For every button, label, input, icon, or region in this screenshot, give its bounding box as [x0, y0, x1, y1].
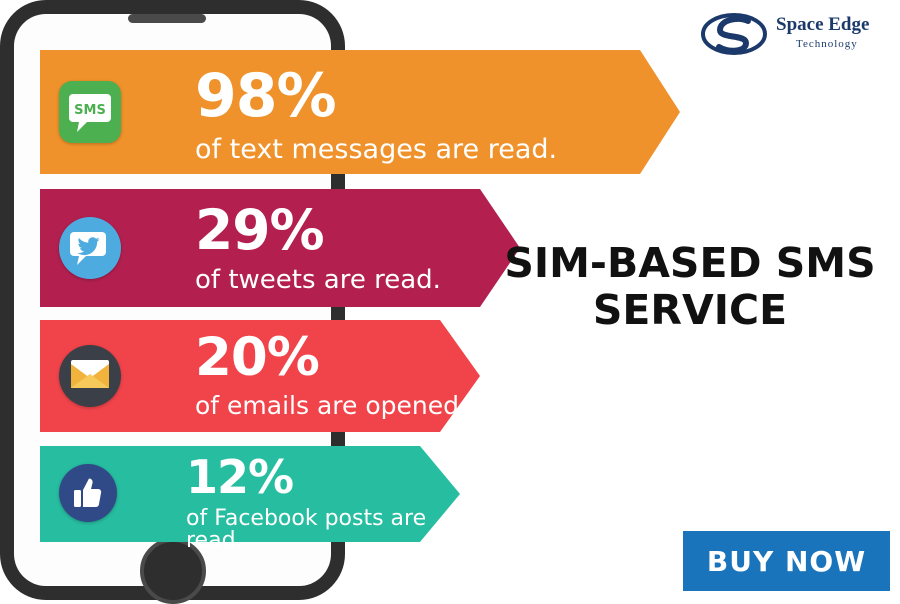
- logo-title: Space Edge: [776, 14, 869, 36]
- bar-row: 29% of tweets are read.: [40, 185, 520, 311]
- bar-row: SMS 98% of text messages are read.: [40, 44, 680, 180]
- phone-speaker: [128, 14, 206, 23]
- bar-caption: of text messages are read.: [195, 136, 557, 163]
- bar-value: 29%: [195, 203, 441, 258]
- bar-caption: of emails are opened.: [195, 393, 467, 418]
- logo-tagline: Technology: [796, 38, 858, 50]
- buy-now-button[interactable]: BUY NOW: [683, 531, 890, 591]
- icon-email: [59, 345, 121, 407]
- bar-row: 20% of emails are opened.: [40, 316, 480, 436]
- bar-caption: of Facebook posts are read.: [186, 508, 460, 552]
- bar-value: 12%: [186, 454, 460, 500]
- bar-caption: of tweets are read.: [195, 267, 441, 293]
- bar-value: 20%: [195, 331, 467, 384]
- brand-logo: Space Edge Technology: [700, 6, 890, 64]
- swirl-s-logo-icon: [700, 8, 770, 60]
- icon-sms: SMS: [59, 81, 121, 143]
- icon-facebook: [59, 464, 117, 522]
- bar-row: 12% of Facebook posts are read.: [40, 442, 460, 546]
- page-title: SIM-BASED SMS SERVICE: [490, 240, 890, 334]
- svg-text:SMS: SMS: [74, 103, 106, 118]
- bar-value: 98%: [195, 66, 557, 126]
- icon-twitter: [59, 217, 121, 279]
